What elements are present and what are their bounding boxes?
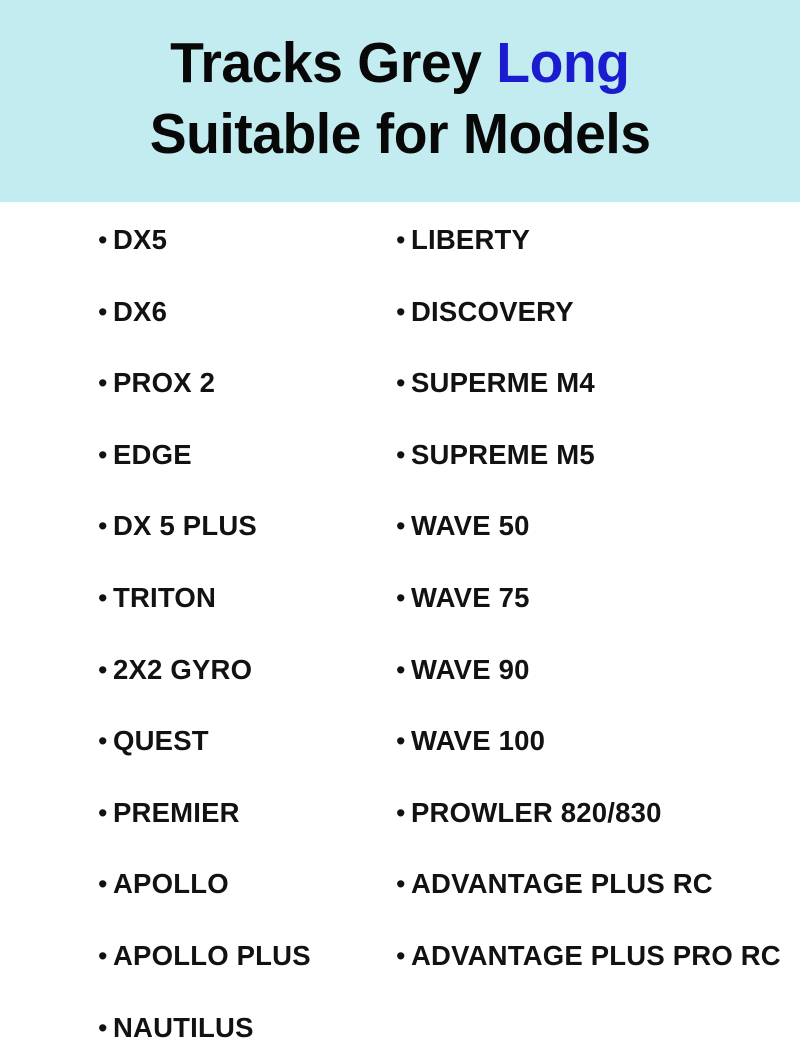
list-item: •ADVANTAGE PLUS PRO RC [396,918,796,990]
bullet-icon: • [396,513,411,540]
bullet-icon: • [396,943,411,970]
list-item: •SUPREME M5 [396,417,796,489]
page-title-line-2: Suitable for Models [150,98,651,171]
list-item: •PROX 2 [98,345,398,417]
list-item: •LIBERTY [396,202,796,274]
bullet-icon: • [98,370,113,397]
bullet-icon: • [396,728,411,755]
model-name: APOLLO [113,870,229,898]
models-list-right: •LIBERTY •DISCOVERY •SUPERME M4 •SUPREME… [396,202,796,990]
model-name: ADVANTAGE PLUS RC [411,870,713,898]
list-item: •WAVE 75 [396,560,796,632]
list-item: •DX5 [98,202,398,274]
product-compatibility-graphic: Tracks Grey Long Suitable for Models •DX… [0,0,800,800]
model-name: SUPERME M4 [411,369,595,397]
page-title-prefix: Tracks Grey [170,31,496,95]
list-item: •EDGE [98,417,398,489]
list-item: •PROWLER 820/830 [396,775,796,847]
model-name: PREMIER [113,799,240,827]
model-name: TRITON [113,584,216,612]
model-name: DX 5 PLUS [113,512,257,540]
bullet-icon: • [98,728,113,755]
list-item: •NAUTILUS [98,990,398,1061]
bullet-icon: • [396,657,411,684]
list-item: •APOLLO PLUS [98,918,398,990]
model-name: WAVE 50 [411,512,530,540]
list-item: •2X2 GYRO [98,632,398,704]
model-name: DX6 [113,298,167,326]
bullet-icon: • [396,299,411,326]
bullet-icon: • [98,513,113,540]
bullet-icon: • [98,442,113,469]
bullet-icon: • [396,871,411,898]
model-name: WAVE 90 [411,656,530,684]
model-name: 2X2 GYRO [113,656,252,684]
list-item: •DX6 [98,274,398,346]
model-name: NAUTILUS [113,1014,254,1042]
model-name: LIBERTY [411,226,530,254]
model-name: EDGE [113,441,192,469]
model-name: SUPREME M5 [411,441,595,469]
bullet-icon: • [396,370,411,397]
model-name: WAVE 75 [411,584,530,612]
list-item: •WAVE 90 [396,632,796,704]
bullet-icon: • [396,442,411,469]
models-list-left: •DX5 •DX6 •PROX 2 •EDGE •DX 5 PLUS •TRIT… [98,202,398,1061]
bullet-icon: • [396,585,411,612]
list-item: •TRITON [98,560,398,632]
list-item: •SUPERME M4 [396,345,796,417]
list-item: •APOLLO [98,846,398,918]
model-name: WAVE 100 [411,727,545,755]
bullet-icon: • [98,871,113,898]
model-name: PROWLER 820/830 [411,799,662,827]
model-name: ADVANTAGE PLUS PRO RC [411,942,781,970]
bullet-icon: • [396,800,411,827]
bullet-icon: • [98,1015,113,1042]
bullet-icon: • [98,657,113,684]
list-item: •WAVE 100 [396,703,796,775]
list-item: •PREMIER [98,775,398,847]
list-item: •DX 5 PLUS [98,488,398,560]
model-name: PROX 2 [113,369,215,397]
page-title-accent: Long [496,31,629,95]
bullet-icon: • [98,943,113,970]
header-banner: Tracks Grey Long Suitable for Models [0,0,800,202]
list-item: •QUEST [98,703,398,775]
model-name: DX5 [113,226,167,254]
bullet-icon: • [98,585,113,612]
list-item: •DISCOVERY [396,274,796,346]
bullet-icon: • [98,227,113,254]
model-name: DISCOVERY [411,298,574,326]
bullet-icon: • [98,800,113,827]
list-item: •WAVE 50 [396,488,796,560]
models-lists: •DX5 •DX6 •PROX 2 •EDGE •DX 5 PLUS •TRIT… [0,202,800,800]
bullet-icon: • [98,299,113,326]
bullet-icon: • [396,227,411,254]
list-item: •ADVANTAGE PLUS RC [396,846,796,918]
model-name: QUEST [113,727,209,755]
model-name: APOLLO PLUS [113,942,311,970]
page-title-line-1: Tracks Grey Long [170,27,629,100]
